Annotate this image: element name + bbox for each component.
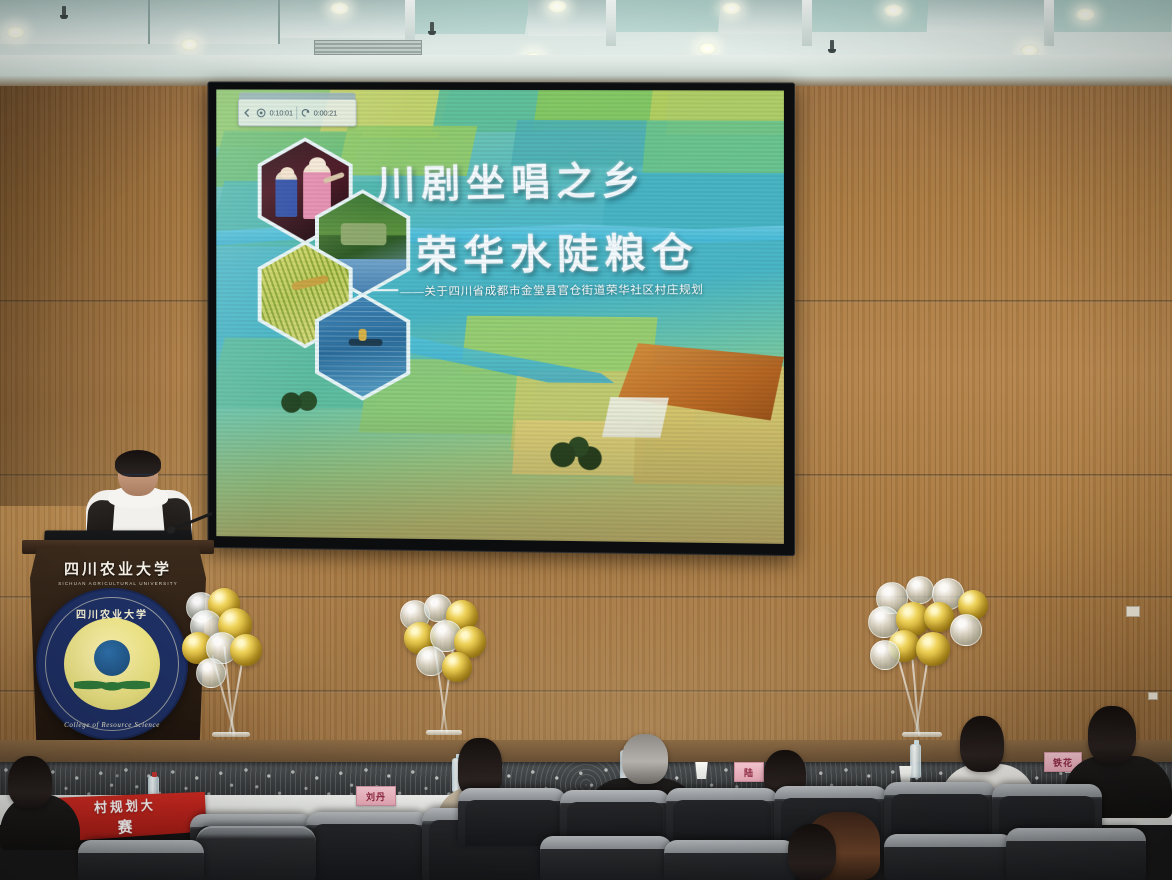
auditorium-seat[interactable] (1006, 828, 1146, 880)
balloon-clear (416, 646, 446, 676)
podium-nameplate: 四川农业大学 SICHUAN AGRICULTURAL UNIVERSITY (40, 558, 196, 586)
sprinkler-head (62, 6, 66, 17)
seat-headrest (884, 834, 1014, 847)
balloon-gold (230, 634, 262, 666)
balloon-clear (196, 658, 226, 688)
ceiling-light (330, 2, 349, 15)
sprinkler-head (830, 40, 834, 51)
ceiling-light (6, 26, 25, 39)
auditorium-seat[interactable] (196, 826, 316, 880)
slide-content: 0:10:01 0:00:21 (216, 89, 784, 543)
slide-title-line-2: 荣华水陡粮仓 (416, 219, 700, 282)
tree-cluster (546, 431, 602, 472)
audience-head (8, 756, 52, 808)
balloon-stand-base (426, 730, 462, 735)
slide-subtitle: ——关于四川省成都市金堂县官仓街道荣华社区村庄规划 (400, 281, 703, 299)
ceiling-light (884, 4, 903, 17)
balloon-stand-base (212, 732, 250, 737)
ceiling-light (698, 42, 717, 55)
auditorium-seat[interactable] (664, 840, 796, 880)
balloon-cluster-left-1 (182, 588, 302, 748)
auditorium-seat[interactable] (540, 836, 672, 880)
balloon-gold (916, 632, 950, 666)
seat-cushion (313, 824, 423, 880)
university-emblem: 四川农业大学 College of Resource Science (36, 588, 188, 740)
balloon-clear (950, 614, 982, 646)
elapsed-time-readout: 0:10:01 (270, 108, 293, 117)
sprinkler-head (430, 22, 434, 33)
placard-name: 铁花 (1053, 756, 1073, 769)
toolbar-divider (296, 106, 297, 119)
presenter-glasses (122, 474, 154, 481)
ceiling-light (722, 2, 741, 15)
banner-line-2: 赛 (117, 815, 135, 837)
audience-head (1088, 706, 1136, 764)
white-label-plot (602, 397, 669, 438)
subtitle-rule (372, 289, 398, 291)
slide-title-line-1: 川剧坐唱之乡 (376, 150, 647, 211)
placard-name: 刘丹 (366, 790, 386, 803)
balloon-gold (442, 652, 472, 682)
wall-plaque (1126, 606, 1140, 617)
balloon-clear (870, 640, 900, 670)
slide-time-readout: 0:00:21 (314, 108, 337, 117)
ceiling-light (548, 0, 567, 13)
seat-headrest (540, 836, 672, 849)
ceiling (0, 0, 1172, 62)
toolbar-drag-handle[interactable] (239, 92, 356, 99)
presenter-hair (115, 450, 161, 477)
seat-headrest (664, 840, 796, 853)
seat-headrest (78, 840, 204, 853)
wall-shadow (0, 86, 206, 506)
led-presentation-screen[interactable]: 0:10:01 0:00:21 (207, 82, 795, 557)
balloon-cluster-left-2 (398, 594, 518, 744)
placard-name: 陆 (744, 766, 754, 779)
name-placard: 陆 (734, 762, 764, 782)
ceiling-light (1076, 8, 1095, 21)
audience-head (622, 734, 668, 784)
audience-head-front (788, 824, 836, 880)
balloon-stand-base (902, 732, 942, 737)
emblem-name-en: College of Resource Science (36, 721, 188, 729)
seat-headrest (1006, 828, 1146, 841)
name-placard: 刘丹 (356, 786, 396, 806)
auditorium-seat[interactable] (884, 834, 1014, 880)
auditorium-seat[interactable] (78, 840, 204, 880)
wall-plaque (1148, 692, 1158, 700)
podium-university-name-cn: 四川农业大学 (40, 558, 196, 579)
emblem-globe-icon (94, 640, 130, 676)
presentation-timer-toolbar[interactable]: 0:10:01 0:00:21 (238, 98, 357, 126)
audience-head (960, 716, 1004, 772)
balloon-clear (906, 576, 934, 604)
ceiling-light (180, 38, 199, 51)
record-timer-icon[interactable] (256, 107, 267, 118)
auditorium-photo: 0:10:01 0:00:21 (0, 0, 1172, 880)
back-arrow-icon[interactable] (242, 107, 253, 118)
auditorium-seat[interactable] (306, 812, 430, 880)
emblem-center (64, 618, 160, 710)
emblem-leaf-icon (74, 672, 150, 698)
banner-line-1: 村规划大 (93, 794, 155, 816)
podium-university-name-en: SICHUAN AGRICULTURAL UNIVERSITY (40, 581, 196, 586)
reset-loop-icon[interactable] (300, 107, 311, 118)
ceiling-vent (314, 40, 422, 55)
water-bottle[interactable] (910, 744, 921, 778)
